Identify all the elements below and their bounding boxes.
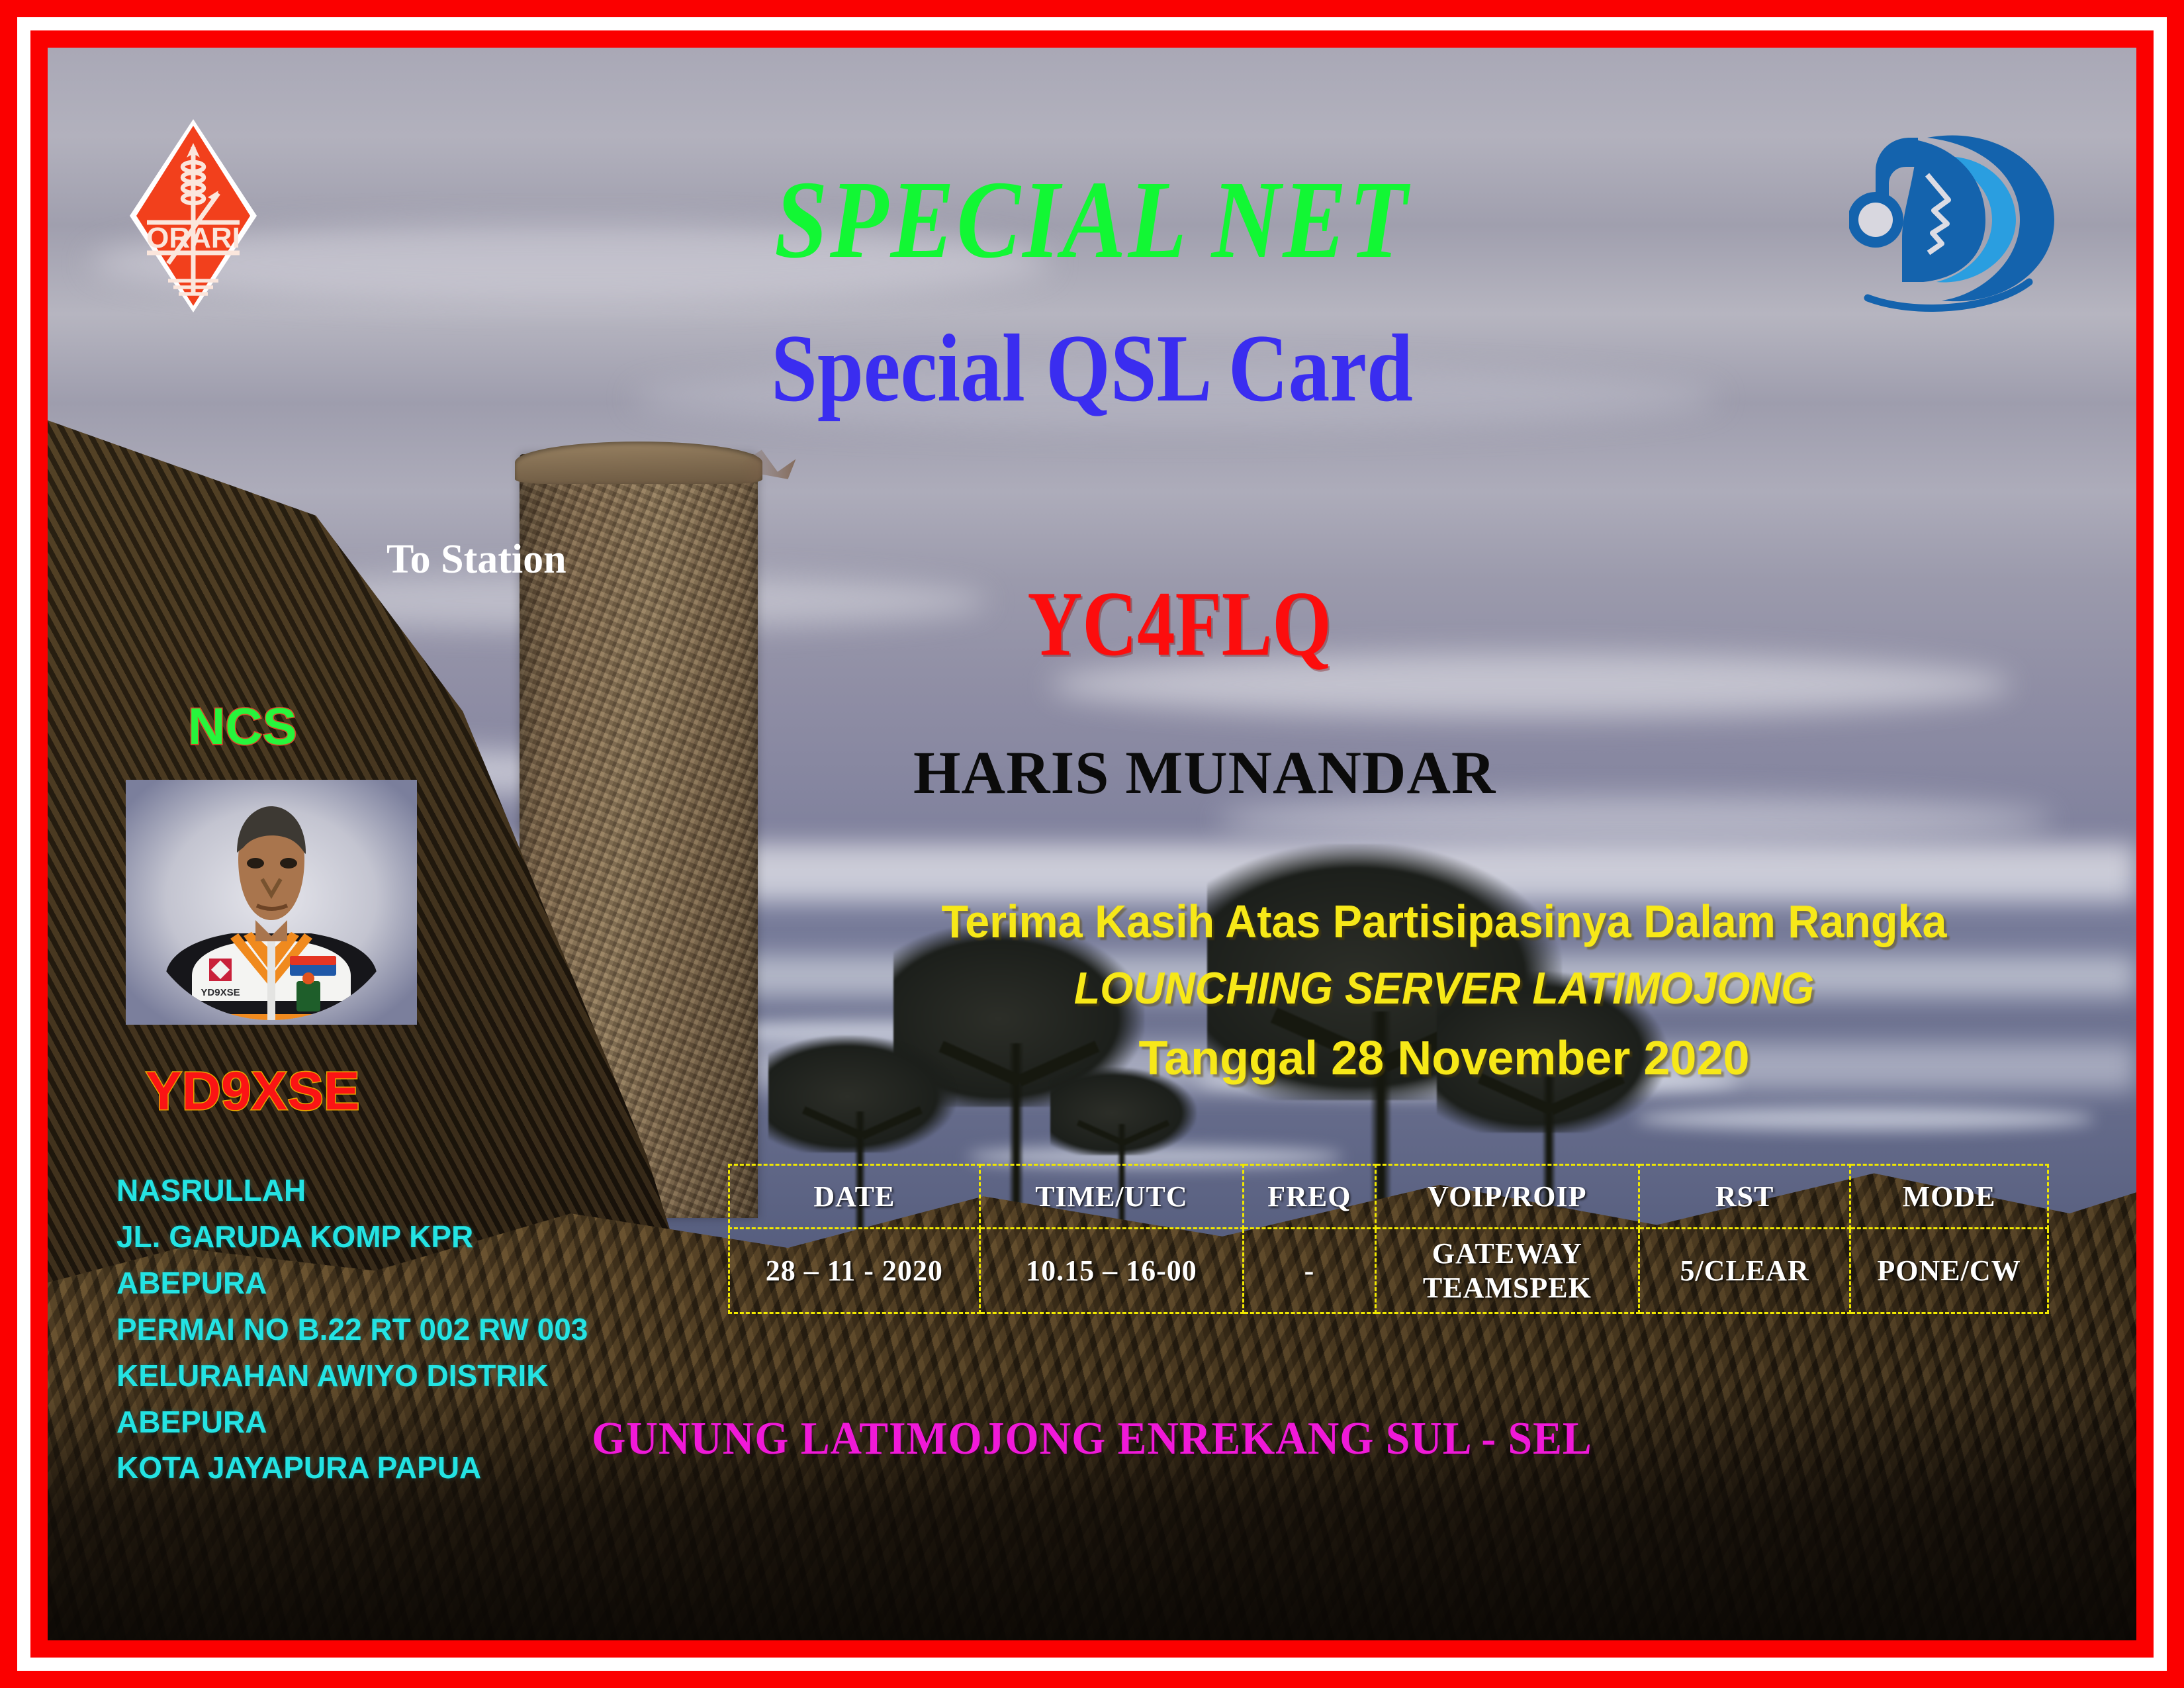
table-row: 28 – 11 - 2020 10.15 – 16-00 - GATEWAY T…	[729, 1229, 2048, 1313]
location-line: GUNUNG LATIMOJONG ENREKANG SUL - SEL	[111, 1413, 2074, 1466]
cell-freq: -	[1244, 1229, 1375, 1313]
address-line: JL. GARUDA KOMP KPR	[116, 1214, 588, 1260]
thanks-line-3: Tanggal 28 November 2020	[796, 1031, 2093, 1086]
column-header-date: DATE	[729, 1165, 980, 1229]
motto-text: "AMATIR RADIO ADALAH PROGRESIVE"	[126, 1634, 943, 1640]
operator-name: HARIS MUNANDAR	[913, 737, 1496, 808]
address-line: KELURAHAN AWIYO DISTRIK	[116, 1353, 588, 1399]
thanks-line-1: Terima Kasih Atas Partisipasinya Dalam R…	[828, 895, 2060, 948]
address-line: ABEPURA	[116, 1260, 588, 1307]
column-header-time: TIME/UTC	[979, 1165, 1244, 1229]
cell-voip-line1: GATEWAY	[1432, 1237, 1582, 1270]
table-header-row: DATE TIME/UTC FREQ VOIP/ROIP RST MODE	[729, 1165, 2048, 1229]
cell-rst: 5/CLEAR	[1639, 1229, 1850, 1313]
ncs-callsign: YD9XSE	[146, 1060, 360, 1123]
cell-date: 28 – 11 - 2020	[729, 1229, 980, 1313]
column-header-rst: RST	[1639, 1165, 1850, 1229]
address-line: PERMAI NO B.22 RT 002 RW 003	[116, 1307, 588, 1353]
address-line: NASRULLAH	[116, 1168, 588, 1214]
qsl-card-outer-border: ORARI	[0, 0, 2184, 1688]
cell-voip-line2: TEAMSPEK	[1423, 1272, 1592, 1304]
column-header-mode: MODE	[1850, 1165, 2048, 1229]
column-header-voip: VOIP/ROIP	[1375, 1165, 1639, 1229]
ncs-label: NCS	[188, 696, 297, 757]
ncs-operator-avatar: YD9XSE	[126, 780, 417, 1025]
qso-log-table: DATE TIME/UTC FREQ VOIP/ROIP RST MODE 28…	[728, 1164, 2049, 1314]
cell-voip: GATEWAY TEAMSPEK	[1375, 1229, 1639, 1313]
thanks-line-2: LOUNCHING SERVER LATIMOJONG	[828, 962, 2060, 1014]
cell-mode: PONE/CW	[1850, 1229, 2048, 1313]
website-address: Address : amatir.latimojong.com	[1465, 1634, 2057, 1640]
column-header-freq: FREQ	[1244, 1165, 1375, 1229]
qsl-card-photo-frame: ORARI	[48, 48, 2136, 1640]
page-subtitle: Special QSL Card	[194, 312, 1990, 424]
uniform-callsign-patch: YD9XSE	[201, 987, 240, 998]
page-title: SPECIAL NET	[194, 156, 1990, 284]
thanks-message-block: Terima Kasih Atas Partisipasinya Dalam R…	[796, 895, 2093, 1086]
to-station-label: To Station	[387, 536, 567, 583]
to-station-callsign: YC4FLQ	[1027, 571, 1331, 677]
cell-time: 10.15 – 16-00	[979, 1229, 1244, 1313]
